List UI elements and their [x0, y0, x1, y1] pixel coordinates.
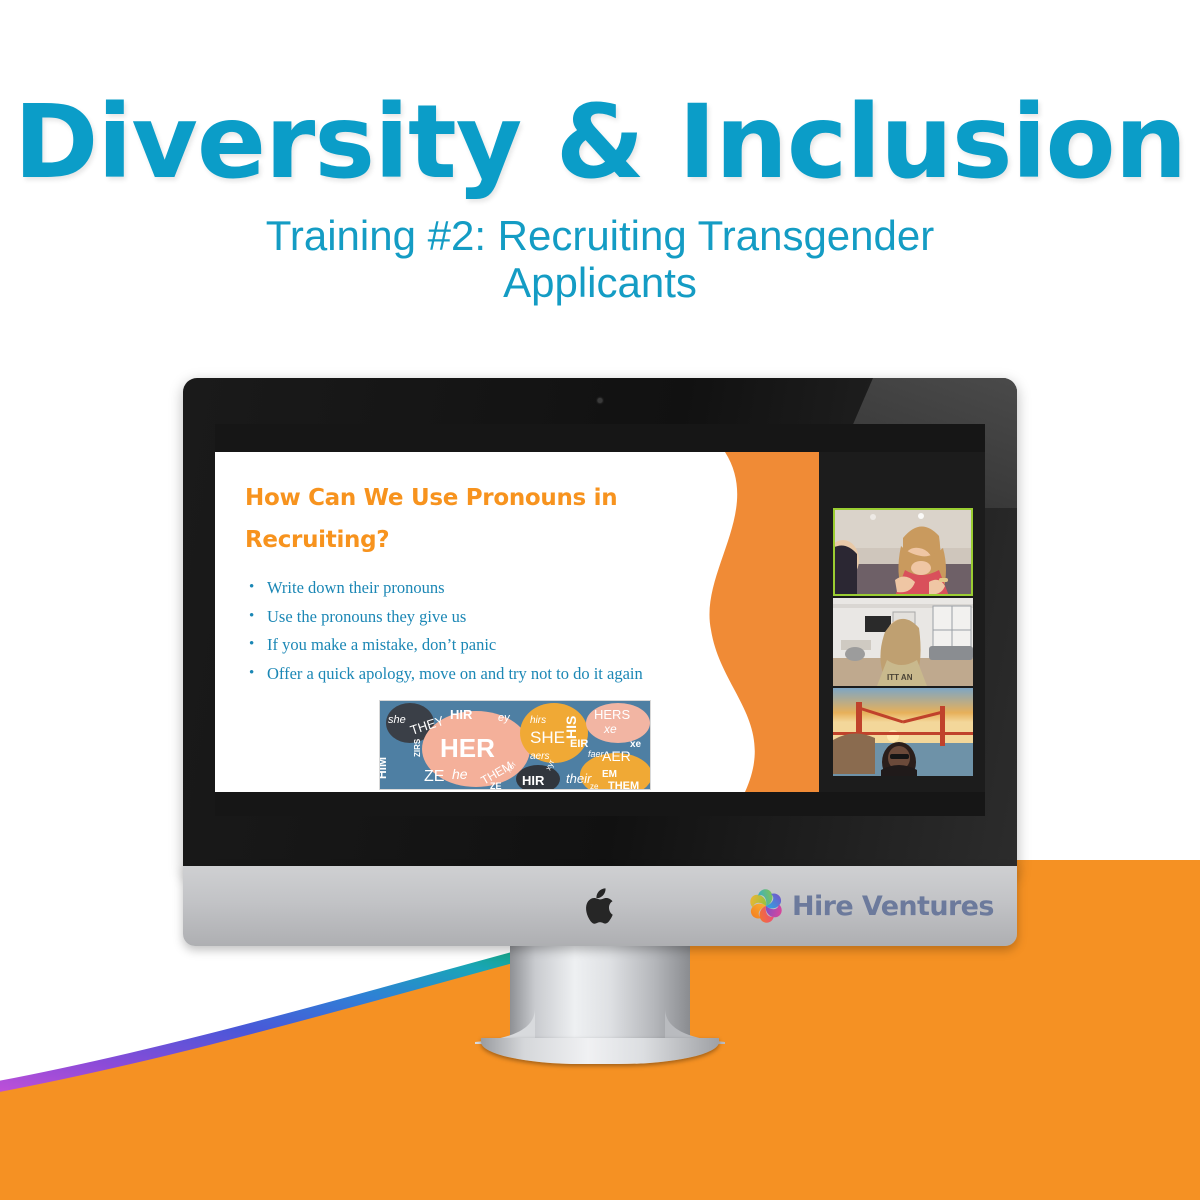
- monitor-bezel: How Can We Use Pronouns in Recruiting? W…: [183, 378, 1017, 873]
- slide-bullet-list: Write down their pronouns Use the pronou…: [245, 574, 669, 690]
- svg-text:EM: EM: [602, 769, 617, 780]
- apple-logo-icon: [585, 888, 615, 924]
- svg-text:HERS: HERS: [594, 707, 630, 722]
- svg-text:ey: ey: [498, 712, 511, 724]
- svg-text:THEM: THEM: [608, 780, 639, 790]
- monitor-stand-base: [481, 1038, 719, 1064]
- svg-text:she: she: [388, 714, 406, 726]
- svg-text:HIM: HIM: [380, 757, 389, 779]
- svg-text:xe: xe: [630, 739, 642, 750]
- svg-text:their: their: [566, 771, 592, 786]
- svg-text:he: he: [452, 766, 468, 782]
- svg-text:HIS: HIS: [563, 716, 579, 739]
- monitor-stand-neck: [510, 944, 690, 1052]
- svg-text:AER: AER: [602, 748, 631, 764]
- hire-ventures-wordmark: Hire Ventures: [792, 891, 994, 922]
- list-item: If you make a mistake, don’t panic: [245, 631, 669, 660]
- pronoun-word-collage: she THEY HIR ey HER hirs SHE aers HIS HE…: [379, 700, 651, 790]
- participant-tile-list: ITT AN: [833, 508, 973, 778]
- list-item: Use the pronouns they give us: [245, 603, 669, 632]
- slide-heading: How Can We Use Pronouns in Recruiting?: [245, 478, 669, 562]
- slide-content: How Can We Use Pronouns in Recruiting? W…: [215, 452, 819, 689]
- page-title: Diversity & Inclusion: [0, 0, 1200, 194]
- hire-ventures-swirl-icon: [749, 889, 783, 923]
- page-header: Diversity & Inclusion Training #2: Recru…: [0, 0, 1200, 330]
- svg-text:HER: HER: [440, 733, 495, 763]
- svg-text:ZIRS: ZIRS: [413, 738, 422, 757]
- hire-ventures-logo: Hire Ventures: [749, 889, 994, 923]
- participant-tile-2[interactable]: ITT AN: [833, 598, 973, 686]
- participant-tile-3[interactable]: [833, 688, 973, 776]
- svg-text:EIR: EIR: [570, 738, 588, 750]
- page-subtitle: Training #2: Recruiting Transgender Appl…: [170, 194, 1030, 306]
- list-item: Write down their pronouns: [245, 574, 669, 603]
- participant-sidebar: ITT AN: [819, 452, 985, 792]
- monitor-screen: How Can We Use Pronouns in Recruiting? W…: [215, 424, 985, 816]
- svg-text:ze: ze: [590, 782, 599, 790]
- svg-text:ZE: ZE: [490, 781, 502, 790]
- video-call-window: How Can We Use Pronouns in Recruiting? W…: [215, 452, 985, 792]
- svg-text:hirs: hirs: [530, 715, 546, 726]
- svg-text:ZE: ZE: [424, 768, 444, 785]
- svg-text:HIR: HIR: [522, 773, 545, 788]
- svg-text:ITT AN: ITT AN: [887, 673, 913, 682]
- participant-tile-1[interactable]: [833, 508, 973, 596]
- presentation-slide: How Can We Use Pronouns in Recruiting? W…: [215, 452, 819, 792]
- webcam-dot-icon: [598, 398, 603, 403]
- svg-text:xe: xe: [603, 722, 617, 736]
- imac-desktop-computer: How Can We Use Pronouns in Recruiting? W…: [183, 378, 1017, 1080]
- monitor-chin: Hire Ventures: [183, 866, 1017, 946]
- svg-text:HIR: HIR: [450, 707, 473, 722]
- svg-text:SHE: SHE: [530, 728, 565, 747]
- list-item: Offer a quick apology, move on and try n…: [245, 660, 669, 689]
